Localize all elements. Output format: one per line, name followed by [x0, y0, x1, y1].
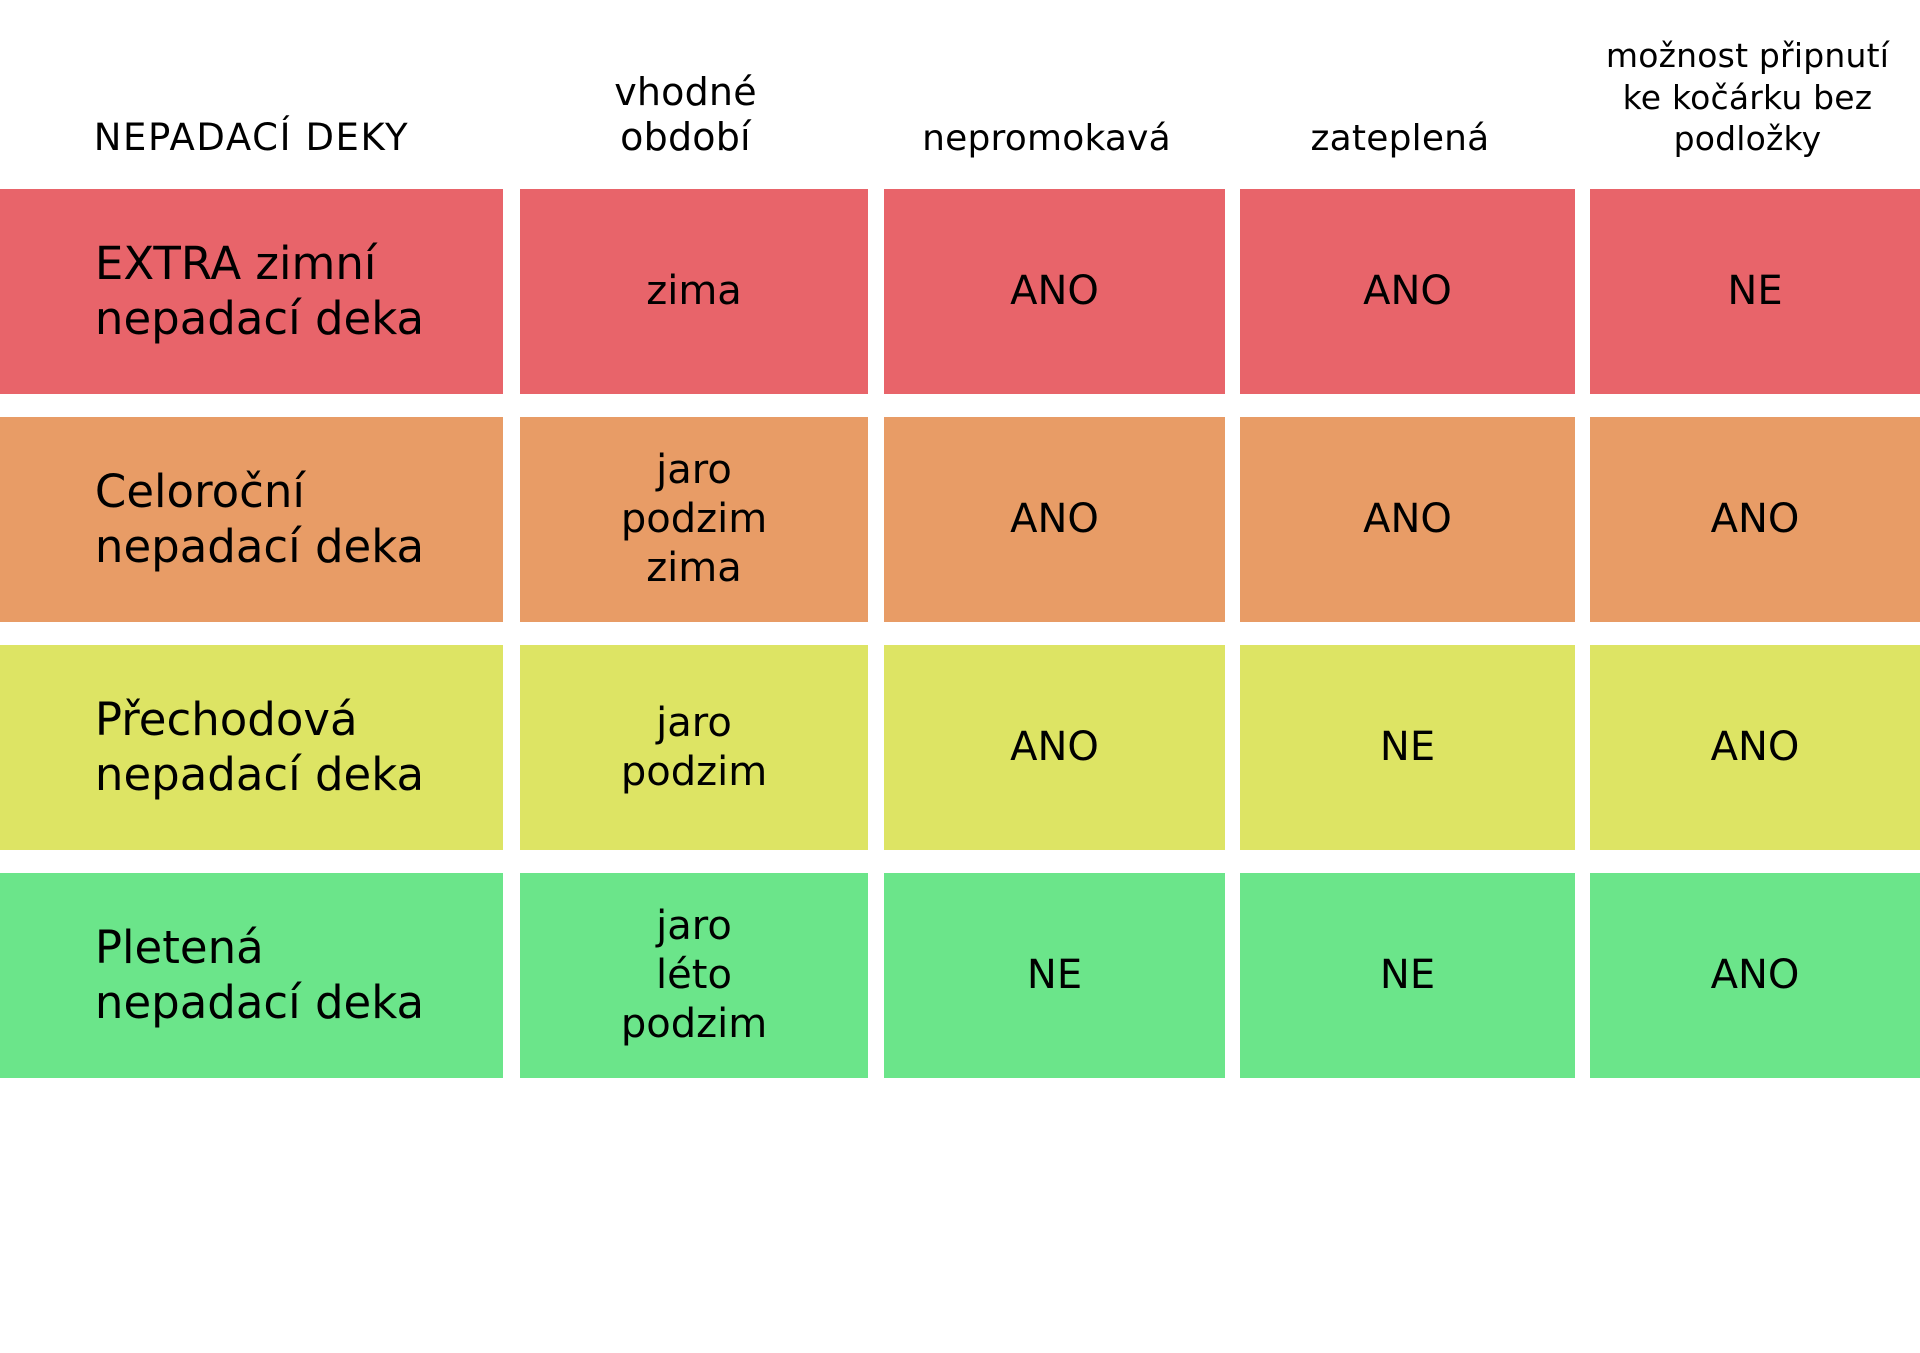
- column-header-insulated: zateplená: [1225, 118, 1575, 186]
- table-row: EXTRA zimní nepadací deka zima ANO ANO N…: [0, 189, 1920, 394]
- cell-waterproof: ANO: [884, 189, 1225, 394]
- cell-waterproof: NE: [884, 873, 1225, 1078]
- cell-product-name: Pletená nepadací deka: [0, 873, 503, 1078]
- cell-insulated: NE: [1240, 873, 1575, 1078]
- cell-waterproof: ANO: [884, 417, 1225, 622]
- table-row: Pletená nepadací deka jaro léto podzim N…: [0, 873, 1920, 1078]
- table-header-row: NEPADACÍ DEKY vhodné období nepromokavá …: [0, 0, 1920, 186]
- cell-season: zima: [520, 189, 868, 394]
- cell-attachment: ANO: [1590, 873, 1920, 1078]
- cell-season: jaro podzim zima: [520, 417, 868, 622]
- cell-product-name: Celoroční nepadací deka: [0, 417, 503, 622]
- cell-attachment: ANO: [1590, 645, 1920, 850]
- cell-insulated: ANO: [1240, 417, 1575, 622]
- cell-waterproof: ANO: [884, 645, 1225, 850]
- column-header-name: NEPADACÍ DEKY: [0, 116, 503, 186]
- cell-attachment: NE: [1590, 189, 1920, 394]
- cell-product-name: Přechodová nepadací deka: [0, 645, 503, 850]
- cell-season: jaro podzim: [520, 645, 868, 850]
- cell-insulated: NE: [1240, 645, 1575, 850]
- comparison-table: NEPADACÍ DEKY vhodné období nepromokavá …: [0, 0, 1920, 1353]
- cell-insulated: ANO: [1240, 189, 1575, 394]
- column-header-attachment: možnost připnutí ke kočárku bez podložky: [1575, 35, 1920, 186]
- cell-product-name: EXTRA zimní nepadací deka: [0, 189, 503, 394]
- cell-attachment: ANO: [1590, 417, 1920, 622]
- table-row: Celoroční nepadací deka jaro podzim zima…: [0, 417, 1920, 622]
- column-header-waterproof: nepromokavá: [868, 118, 1225, 186]
- cell-season: jaro léto podzim: [520, 873, 868, 1078]
- table-row: Přechodová nepadací deka jaro podzim ANO…: [0, 645, 1920, 850]
- column-header-season: vhodné období: [503, 70, 868, 186]
